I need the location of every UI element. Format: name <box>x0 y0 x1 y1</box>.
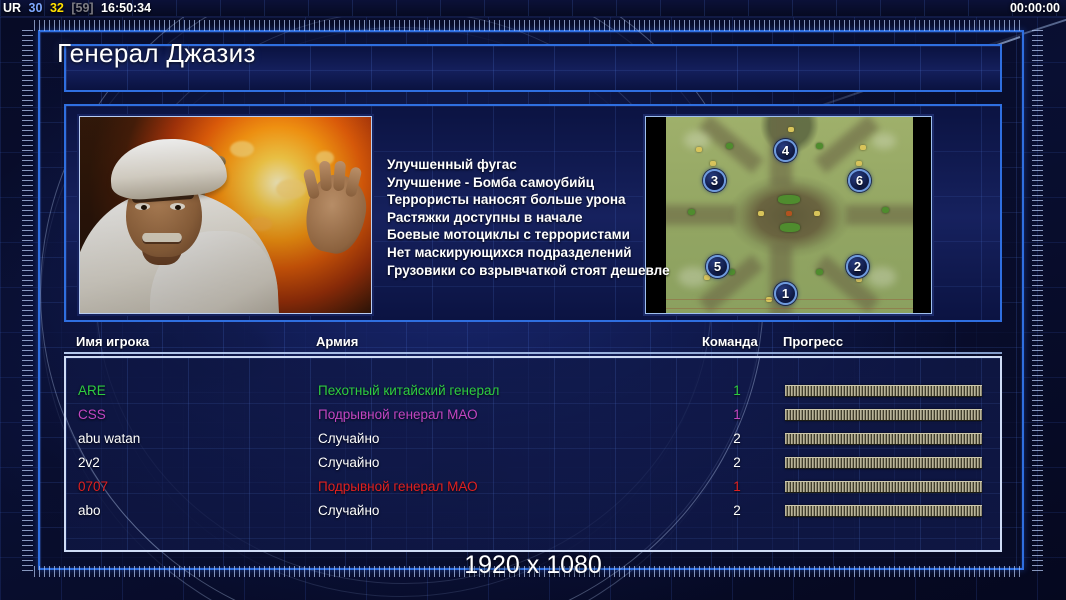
column-header-progress: Прогресс <box>783 334 843 349</box>
general-description: Улучшенный фугас Улучшение - Бомба самоу… <box>387 156 717 279</box>
hud-stats: UR 30 32 [59] 16:50:34 <box>3 1 155 15</box>
hud-timer: 00:00:00 <box>1010 1 1060 15</box>
column-header-team: Команда <box>702 334 758 349</box>
main-panel: Генерал Джазиз <box>38 30 1024 570</box>
description-line: Боевые мотоциклы с террористами <box>387 226 717 244</box>
player-team: 2 <box>728 431 746 446</box>
description-line: Растяжки доступны в начале <box>387 209 717 227</box>
table-row[interactable]: abu watanСлучайно2 <box>66 428 1002 452</box>
general-info-panel: Улучшенный фугас Улучшение - Бомба самоу… <box>64 104 1002 322</box>
player-team: 1 <box>728 383 746 398</box>
player-army: Подрывной генерал МАО <box>318 479 478 494</box>
player-progress-bar <box>785 505 982 517</box>
description-line: Нет маскирующихся подразделений <box>387 244 717 262</box>
player-army: Пехотный китайский генерал <box>318 383 499 398</box>
player-name: CSS <box>78 407 106 422</box>
description-line: Грузовики со взрывчаткой стоят дешевле <box>387 262 717 280</box>
table-row[interactable]: AREПехотный китайский генерал1 <box>66 380 1002 404</box>
map-spawn-point[interactable]: 2 <box>846 255 869 278</box>
map-spawn-point[interactable]: 6 <box>848 169 871 192</box>
player-progress-bar <box>785 457 982 469</box>
table-row[interactable]: 0707Подрывной генерал МАО1 <box>66 476 1002 500</box>
player-table-panel: AREПехотный китайский генерал1CSSПодрывн… <box>64 356 1002 552</box>
table-row[interactable]: CSSПодрывной генерал МАО1 <box>66 404 1002 428</box>
game-lobby-screen: UR 30 32 [59] 16:50:34 00:00:00 Генерал … <box>0 0 1066 600</box>
table-row[interactable]: 2v2Случайно2 <box>66 452 1002 476</box>
player-progress-bar <box>785 433 982 445</box>
player-army: Случайно <box>318 431 379 446</box>
ruler-left <box>22 30 33 575</box>
player-team: 2 <box>728 455 746 470</box>
hud-value-yellow: 32 <box>50 1 64 15</box>
player-name: 0707 <box>78 479 108 494</box>
table-row[interactable]: aboСлучайно2 <box>66 500 1002 524</box>
player-army: Случайно <box>318 455 379 470</box>
page-title: Генерал Джазиз <box>57 38 256 69</box>
column-header-player: Имя игрока <box>76 334 149 349</box>
player-table-header: Имя игрока Армия Команда Прогресс <box>64 332 1002 354</box>
description-line: Террористы наносят больше урона <box>387 191 717 209</box>
map-spawn-point[interactable]: 4 <box>774 139 797 162</box>
hud-label: UR <box>3 1 21 15</box>
description-line: Улучшение - Бомба самоубийц <box>387 174 717 192</box>
player-army: Случайно <box>318 503 379 518</box>
player-progress-bar <box>785 385 982 397</box>
player-name: abu watan <box>78 431 140 446</box>
general-portrait <box>80 117 371 313</box>
hud-value-blue: 30 <box>29 1 43 15</box>
description-line: Улучшенный фугас <box>387 156 717 174</box>
resolution-label: 1920 x 1080 <box>0 551 1066 580</box>
hud-bar: UR 30 32 [59] 16:50:34 00:00:00 <box>0 0 1066 17</box>
player-progress-bar <box>785 409 982 421</box>
player-team: 2 <box>728 503 746 518</box>
ruler-top <box>34 20 1024 31</box>
player-progress-bar <box>785 481 982 493</box>
hud-grid <box>0 0 1066 16</box>
player-name: ARE <box>78 383 106 398</box>
player-team: 1 <box>728 407 746 422</box>
ruler-right <box>1032 30 1043 575</box>
player-name: abo <box>78 503 101 518</box>
column-header-army: Армия <box>316 334 358 349</box>
player-army: Подрывной генерал МАО <box>318 407 478 422</box>
hud-clock: 16:50:34 <box>101 1 151 15</box>
header-underline <box>64 352 1002 354</box>
map-spawn-point[interactable]: 1 <box>774 282 797 305</box>
general-portrait-frame <box>79 116 372 314</box>
map-center-base <box>770 195 812 235</box>
hud-value-bracket: [59] <box>71 1 93 15</box>
player-team: 1 <box>728 479 746 494</box>
player-name: 2v2 <box>78 455 100 470</box>
